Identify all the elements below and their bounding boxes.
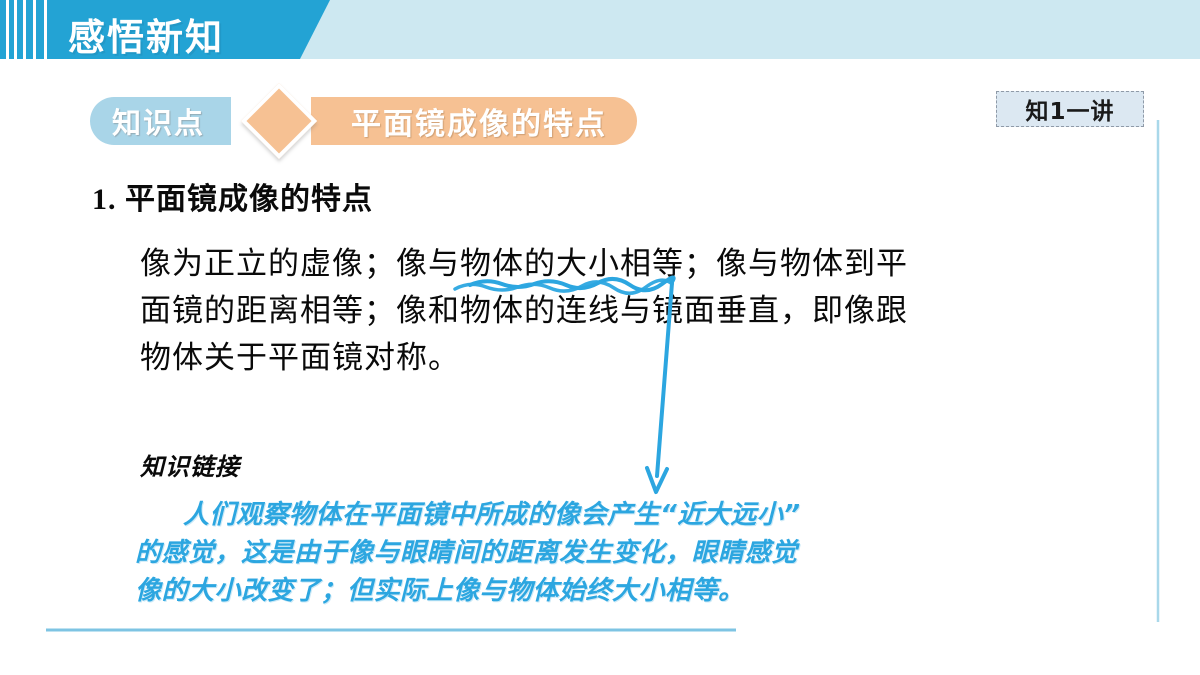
- knowledge-point-title: 平面镜成像的特点: [351, 99, 607, 143]
- header-stripes-decor: [6, 0, 54, 59]
- knowledge-point-badge: 知识点: [90, 97, 231, 145]
- body-paragraph: 像为正立的虚像；像与物体的大小相等；像与物体到平 面镜的距离相等；像和物体的连线…: [140, 240, 1120, 381]
- note-line: 的感觉，这是由于像与眼睛间的距离发生变化，眼睛感觉: [135, 534, 1095, 572]
- note-paragraph: 人们观察物体在平面镜中所成的像会产生“近大远小” 的感觉，这是由于像与眼睛间的距…: [135, 496, 1095, 610]
- lesson-badge-label: 知1一讲: [1025, 92, 1114, 126]
- note-line: 人们观察物体在平面镜中所成的像会产生“近大远小”: [135, 496, 1095, 534]
- section-heading: 1. 平面镜成像的特点: [92, 174, 373, 218]
- body-line: 像为正立的虚像；像与物体的大小相等；像与物体到平: [140, 240, 1120, 287]
- body-line: 物体关于平面镜对称。: [140, 334, 1120, 381]
- slide-canvas: 感悟新知 知识点 平面镜成像的特点 知1一讲 1. 平面镜成像的特点 像为正立的…: [0, 0, 1200, 675]
- note-line: 像的大小改变了；但实际上像与物体始终大小相等。: [135, 572, 1095, 610]
- down-arrow-icon: [647, 468, 667, 492]
- knowledge-point-badge-label: 知识点: [112, 100, 205, 142]
- body-line: 面镜的距离相等；像和物体的连线与镜面垂直，即像跟: [140, 287, 1120, 334]
- knowledge-point-title-pill: 平面镜成像的特点: [311, 97, 637, 145]
- knowledge-link-label: 知识链接: [140, 447, 240, 482]
- lesson-badge: 知1一讲: [996, 91, 1144, 127]
- diamond-icon: [241, 83, 317, 159]
- header-title: 感悟新知: [68, 7, 224, 61]
- slide-header: 感悟新知: [0, 0, 1200, 59]
